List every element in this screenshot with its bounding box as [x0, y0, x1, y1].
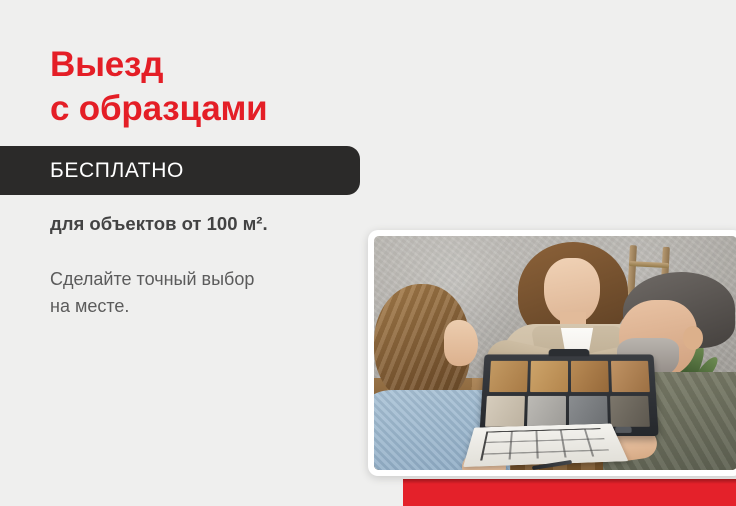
note-line-1: Сделайте точный выбор: [50, 266, 350, 293]
sample-tile: [571, 361, 609, 392]
sample-tile: [530, 361, 568, 392]
sample-row-stone: [485, 396, 650, 427]
note-line-2: на месте.: [50, 293, 350, 320]
consultation-photo: [374, 236, 736, 470]
sample-tile: [485, 396, 525, 427]
bottom-accent-bar: [403, 479, 736, 506]
sample-tile: [610, 396, 650, 427]
sample-row-wood: [489, 361, 650, 392]
sample-tile: [527, 396, 566, 427]
page-title: Выезд с образцами: [50, 43, 370, 131]
badge-label: БЕСПЛАТНО: [50, 146, 184, 195]
note-text: Сделайте точный выбор на месте.: [50, 266, 350, 320]
case-latch: [615, 427, 632, 433]
condition-text: для объектов от 100 м².: [50, 211, 268, 237]
status-badge: БЕСПЛАТНО: [0, 146, 360, 195]
photo-card: [368, 230, 736, 476]
case-handle: [549, 349, 590, 356]
sample-tile: [611, 361, 650, 392]
sample-tile: [569, 396, 608, 427]
headline-line-1: Выезд: [50, 43, 370, 87]
promo-banner: Выезд с образцами БЕСПЛАТНО для объектов…: [0, 0, 736, 506]
headline-line-2: с образцами: [50, 87, 370, 131]
sample-case: [479, 354, 658, 436]
sample-tile: [489, 361, 528, 392]
copy-column: Выезд с образцами БЕСПЛАТНО для объектов…: [0, 0, 380, 506]
floor-plan-drawing: [463, 424, 628, 467]
